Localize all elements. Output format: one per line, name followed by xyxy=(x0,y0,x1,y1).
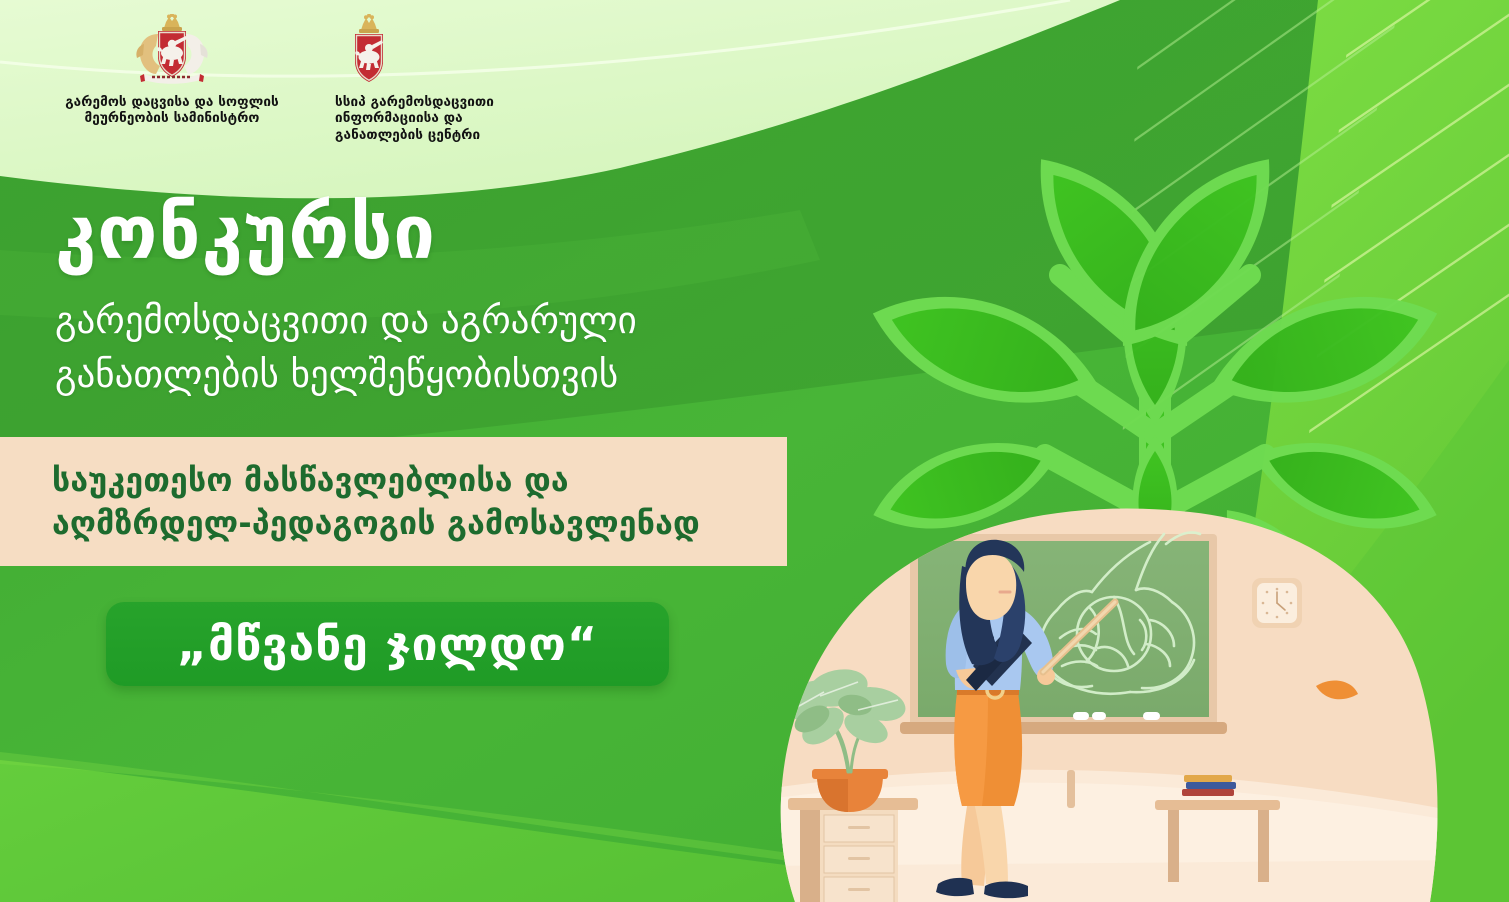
chalk-ledge xyxy=(900,722,1227,734)
logo-ministry-caption: გარემოს დაცვისა და სოფლის მეურნეობის სამ… xyxy=(52,94,292,127)
logo-row: გარემოს დაცვისა და სოფლის მეურნეობის სამ… xyxy=(0,0,640,150)
page-subtitle: გარემოსდაცვითი და აგრარული განათლების ხე… xyxy=(55,294,815,401)
chalk-piece xyxy=(1092,712,1106,720)
highlight-band: საუკეთესო მასწავლებლისა და აღმზრდელ-პედა… xyxy=(0,437,787,566)
logo-ministry: გარემოს დაცვისა და სოფლის მეურნეობის სამ… xyxy=(52,14,292,127)
chalk-piece xyxy=(1073,712,1089,720)
page-title: კონკურსი xyxy=(55,196,875,270)
poster-root: გარემოს დაცვისა და სოფლის მეურნეობის სამ… xyxy=(0,0,1509,902)
band-line-1: საუკეთესო მასწავლებლისა და xyxy=(52,459,771,501)
headline-block: კონკურსი გარემოსდაცვითი და აგრარული განა… xyxy=(55,196,875,401)
crown xyxy=(359,14,379,33)
logo-center-caption: სსიპ გარემოსდაცვითი ინფორმაციისა და განა… xyxy=(335,94,550,143)
shoe xyxy=(984,882,1028,899)
crown xyxy=(162,14,182,31)
subtitle-line-1: გარემოსდაცვითი და აგრარული xyxy=(55,294,815,348)
chalk-piece xyxy=(1143,712,1160,720)
subtitle-line-2: განათლების ხელშეწყობისთვის xyxy=(55,348,815,402)
award-badge: „მწვანე ჯილდო“ xyxy=(106,602,669,686)
award-badge-label: „მწვანე ჯილდო“ xyxy=(177,621,598,667)
logo-center: სსიპ გარემოსდაცვითი ინფორმაციისა და განა… xyxy=(335,14,550,143)
band-line-2: აღმზრდელ-პედაგოგის გამოსავლენად xyxy=(52,502,771,544)
wall-clock xyxy=(1252,578,1302,628)
georgia-coat-of-arms-icon xyxy=(118,14,226,88)
georgia-shield-crest-icon xyxy=(341,14,401,88)
face xyxy=(966,552,1016,620)
